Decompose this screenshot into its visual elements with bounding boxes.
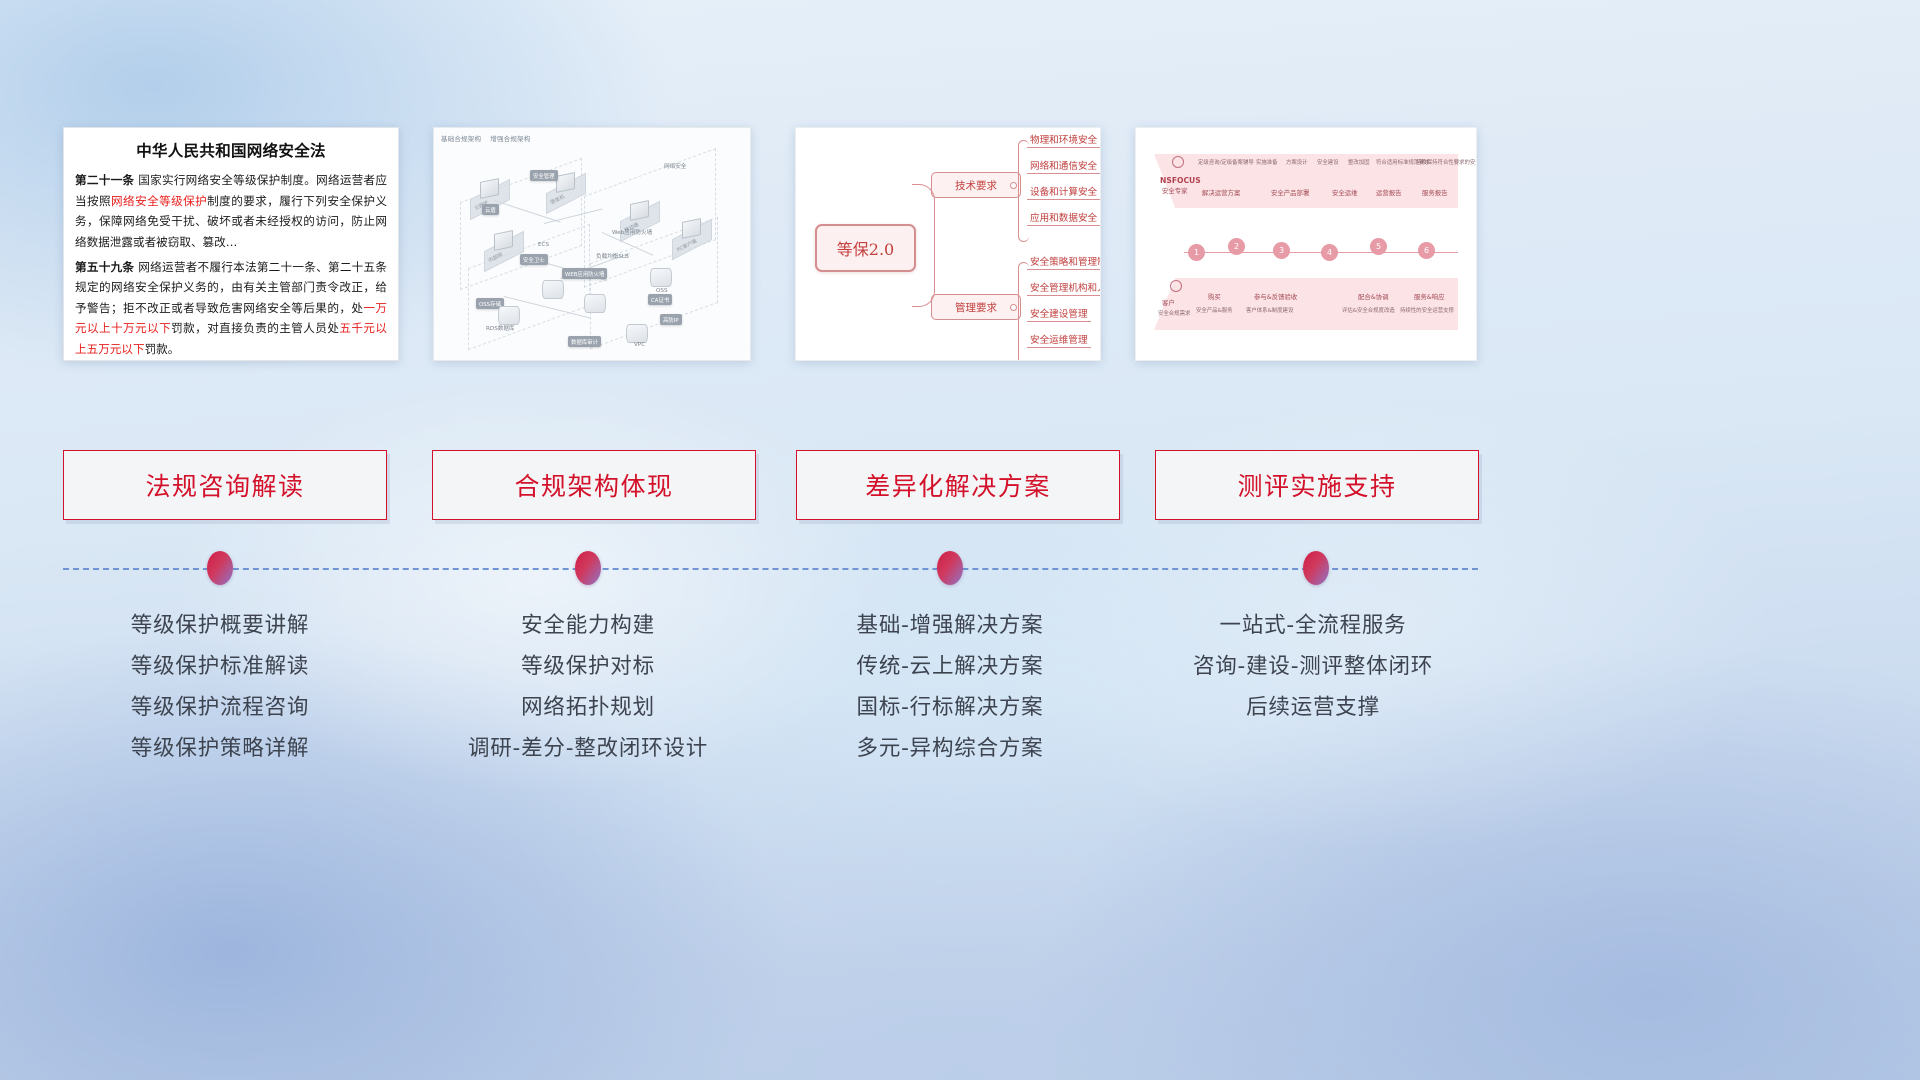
node-text-label: VPC [634, 342, 645, 348]
mindmap-root-node: 等保2.0 [815, 224, 916, 272]
pillar-title-box-3[interactable]: 差异化解决方案 [796, 450, 1120, 520]
pillar-title-2: 合规架构体现 [514, 467, 673, 503]
list-item: 调研-差分-整改闭环设计 [418, 729, 758, 770]
pillar-title-4: 测评实施支持 [1237, 467, 1396, 503]
mindmap-leaf: 安全策略和管理制度 [1027, 254, 1101, 270]
law-article-59-text-3: 罚款。 [145, 342, 180, 356]
pillar-title-box-2[interactable]: 合规架构体现 [432, 450, 756, 520]
node-text-label: ECS [538, 242, 549, 248]
list-item: 国标-行标解决方案 [780, 688, 1120, 729]
law-article-21: 第二十一条 国家实行网络安全等级保护制度。网络运营者应当按照网络安全等级保护制度… [75, 170, 387, 253]
node-storage-icon [498, 306, 520, 325]
node-storage-icon [584, 294, 606, 313]
roadmap-phase-label: 服务报告 [1422, 188, 1448, 197]
roadmap-role-bottom-sub: 安全合规需求 [1158, 309, 1190, 317]
list-item: 基础-增强解决方案 [780, 606, 1120, 647]
roadmap-brand-sub: 安全专家 [1162, 186, 1188, 195]
law-article-59: 第五十九条 网络运营者不履行本法第二十一条、第二十五条规定的网络安全保护义务的，… [75, 257, 387, 360]
roadmap-bottom-label: 配合&协调 [1358, 292, 1389, 301]
roadmap-bottom-sub: 评估&安全合规度改造 [1342, 306, 1395, 314]
law-title: 中华人民共和国网络安全法 [64, 139, 398, 161]
pillar-title-1: 法规咨询解读 [145, 467, 304, 503]
pillar-title-3: 差异化解决方案 [865, 467, 1051, 503]
mindmap-leaf: 安全运维管理 [1027, 332, 1091, 348]
card-compliance-architecture[interactable]: 基础合规架构 增强合规架构 公网IP 堡垒机 移动端 [433, 127, 751, 361]
preview-cards-row: 中华人民共和国网络安全法 第二十一条 国家实行网络安全等级保护制度。网络运营者应… [0, 0, 1920, 1080]
roadmap-top-label: 实施准备 [1256, 158, 1278, 166]
timeline-dashed-line [63, 568, 1478, 570]
roadmap-step: 6 [1418, 242, 1435, 259]
list-item: 一站式-全流程服务 [1143, 606, 1483, 647]
timeline-dot-1[interactable] [207, 551, 233, 585]
pillar-items-2: 安全能力构建 等级保护对标 网络拓扑规划 调研-差分-整改闭环设计 [418, 606, 758, 769]
card-cybersecurity-law[interactable]: 中华人民共和国网络安全法 第二十一条 国家实行网络安全等级保护制度。网络运营者应… [63, 127, 399, 361]
card-assessment-roadmap[interactable]: NSFOCUS 安全专家 客户 安全合规需求 定级咨询/定级备案辅导 实施准备 … [1135, 127, 1477, 361]
list-item: 等级保护对标 [418, 647, 758, 688]
node-chip: 云盾 [482, 204, 499, 215]
architecture-header: 基础合规架构 增强合规架构 [441, 133, 530, 143]
node-storage-icon [542, 280, 564, 299]
roadmap-brand: NSFOCUS [1160, 176, 1201, 185]
list-item: 安全能力构建 [418, 606, 758, 647]
roadmap-phase-label: 安全运维 [1332, 188, 1358, 197]
node-text-label: 网络安全 [664, 162, 686, 170]
timeline-dot-3[interactable] [937, 551, 963, 585]
mindmap-leaf: 应用和数据安全 [1027, 210, 1100, 226]
timeline-dot-4[interactable] [1303, 551, 1329, 585]
list-item: 网络拓扑规划 [418, 688, 758, 729]
architecture-header-left: 基础合规架构 [441, 135, 481, 143]
list-item: 传统-云上解决方案 [780, 647, 1120, 688]
mindmap-root-curve-upper [912, 184, 935, 247]
diagram-node: 内部网 [494, 232, 513, 249]
node-chip: 高防IP [660, 314, 682, 325]
law-article-21-label: 第二十一条 [75, 173, 134, 187]
diagram-node: 堡垒机 [556, 174, 575, 191]
diagram-node: 公网IP [480, 180, 499, 197]
law-article-59-label: 第五十九条 [75, 260, 134, 274]
roadmap-top-label: 方案设计 [1286, 158, 1308, 166]
roadmap-bottom-sub: 持续性的安全运营支撑 [1400, 306, 1454, 314]
mindmap-connector-dot [1010, 304, 1017, 311]
list-item: 后续运营支撑 [1143, 688, 1483, 729]
law-article-21-highlight: 网络安全等级保护 [111, 194, 207, 208]
mindmap-leaf: 设备和计算安全 [1027, 184, 1100, 200]
node-text-label: 负载均衡SLB [596, 252, 629, 260]
list-item: 咨询-建设-测评整体闭环 [1143, 647, 1483, 688]
diagram-node: 移动端 [630, 202, 649, 219]
roadmap-bottom-label: 服务&响应 [1414, 292, 1445, 301]
roadmap-top-label: 定级咨询/定级备案辅导 [1198, 158, 1254, 166]
roadmap-phase-label: 运营报告 [1376, 188, 1402, 197]
node-storage-icon [626, 324, 648, 343]
node-chip: 安全卫士 [520, 254, 548, 265]
roadmap-top-label: 整改加固 [1348, 158, 1370, 166]
list-item: 等级保护流程咨询 [50, 688, 390, 729]
node-chip: 数据库审计 [568, 336, 601, 347]
pillar-items-3: 基础-增强解决方案 传统-云上解决方案 国标-行标解决方案 多元-异构综合方案 [780, 606, 1120, 769]
list-item: 多元-异构综合方案 [780, 729, 1120, 770]
architecture-header-right: 增强合规架构 [490, 135, 530, 143]
roadmap-top-label: 安全建设 [1317, 158, 1339, 166]
list-item: 等级保护策略详解 [50, 729, 390, 770]
roadmap-band-bottom [1154, 278, 1458, 330]
node-text-label: Web应用防火墙 [612, 228, 652, 236]
timeline-dot-2[interactable] [575, 551, 601, 585]
roadmap-bottom-sub: 安全产品&服务 [1196, 306, 1233, 314]
mindmap-leaf: 物理和环境安全 [1027, 132, 1100, 148]
mindmap-connector-dot [1010, 182, 1017, 189]
mindmap-leaf: 网络和通信安全 [1027, 158, 1100, 174]
roadmap-step: 4 [1321, 244, 1338, 261]
pillar-title-box-4[interactable]: 测评实施支持 [1155, 450, 1479, 520]
node-text-label: RDS数据库 [486, 324, 515, 332]
mindmap-leaf: 安全管理机构和人员 [1027, 280, 1101, 296]
mindmap-branch-technical: 技术要求 [931, 172, 1021, 198]
diagram-node: PC客户端 [682, 220, 701, 237]
client-person-icon [1170, 280, 1182, 292]
roadmap-bottom-label: 参与&反馈验收 [1254, 292, 1297, 301]
node-text-label: OSS [656, 288, 668, 294]
roadmap-role-bottom: 客户 [1162, 298, 1175, 307]
pillar-items-1: 等级保护概要讲解 等级保护标准解读 等级保护流程咨询 等级保护策略详解 [50, 606, 390, 769]
roadmap-phase-label: 解决运营方案 [1202, 188, 1240, 197]
pillar-title-box-1[interactable]: 法规咨询解读 [63, 450, 387, 520]
mindmap-branch-management: 管理要求 [931, 294, 1021, 320]
roadmap-top-label: 持续保持符合性要求的安全运营 [1416, 158, 1477, 166]
expert-person-icon [1172, 156, 1184, 168]
roadmap-step: 1 [1188, 244, 1205, 261]
mindmap-root-curve-lower [912, 246, 935, 307]
roadmap-bottom-sub: 客户体系&制度建设 [1246, 306, 1293, 314]
node-storage-icon [650, 268, 672, 287]
card-mindmap-dengbao[interactable]: 等保2.0 技术要求 物理和环境安全 网络和通信安全 设备和计算安全 应用和数据… [795, 127, 1101, 361]
roadmap-step: 2 [1228, 238, 1245, 255]
node-chip: WEB应用防火墙 [562, 268, 607, 279]
node-chip: CA证书 [648, 294, 672, 305]
list-item: 等级保护标准解读 [50, 647, 390, 688]
mindmap-leaf: 安全建设管理 [1027, 306, 1091, 322]
node-chip: 安全管理 [530, 170, 558, 181]
roadmap-step: 5 [1370, 238, 1387, 255]
roadmap-step: 3 [1273, 242, 1290, 259]
pillar-items-4: 一站式-全流程服务 咨询-建设-测评整体闭环 后续运营支撑 [1143, 606, 1483, 729]
list-item: 等级保护概要讲解 [50, 606, 390, 647]
law-body: 第二十一条 国家实行网络安全等级保护制度。网络运营者应当按照网络安全等级保护制度… [64, 170, 398, 360]
roadmap-bottom-label: 购买 [1208, 292, 1221, 301]
roadmap-phase-label: 安全产品部署 [1271, 188, 1309, 197]
law-article-59-text-2: 罚款，对直接负责的主管人员处 [171, 321, 339, 335]
